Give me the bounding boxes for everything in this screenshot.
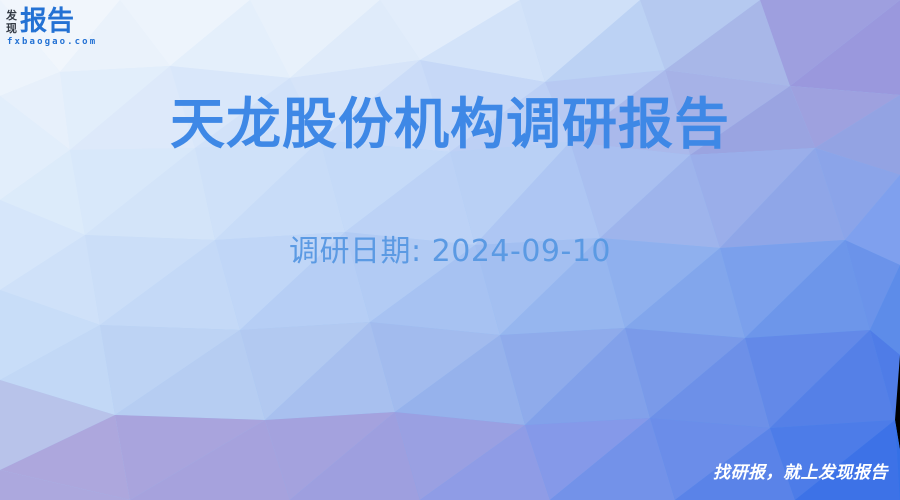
logo-wordmark: 报告 [20,8,74,36]
brand-logo[interactable]: 发 现 报告 fxbaogao.com [6,8,97,47]
low-poly-background [0,0,900,500]
footer-slogan: 找研报，就上发现报告 [713,462,888,484]
report-cover-slide: 发 现 报告 fxbaogao.com 天龙股份机构调研报告 调研日期: 202… [0,0,900,500]
logo-stack-bottom: 现 [6,22,17,35]
logo-stack-top: 发 [6,9,17,22]
logo-row: 发 现 报告 [6,8,74,36]
logo-stacked-chars: 发 现 [6,9,17,35]
logo-domain-text: fxbaogao.com [7,37,97,47]
